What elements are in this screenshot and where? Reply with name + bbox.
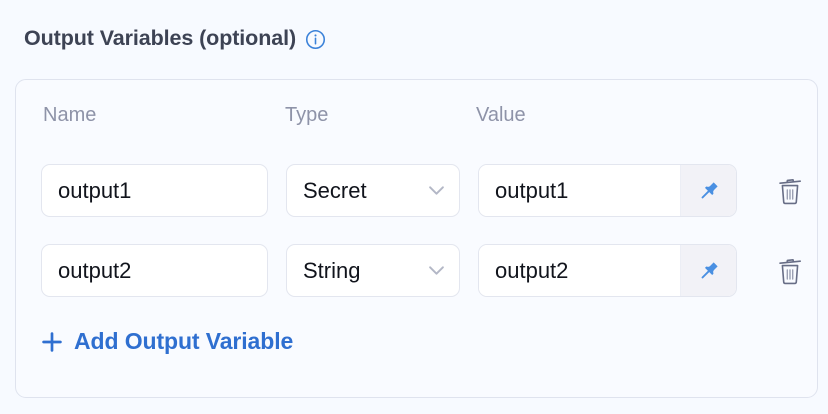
pushpin-icon <box>697 259 721 283</box>
name-input[interactable]: output1 <box>41 164 268 217</box>
value-field-group: output1 <box>478 164 737 217</box>
section-header: Output Variables (optional) <box>24 26 326 51</box>
page-title: Output Variables (optional) <box>24 26 296 51</box>
value-input[interactable]: output1 <box>479 165 680 216</box>
pushpin-icon <box>697 179 721 203</box>
plus-icon <box>41 331 63 353</box>
pin-button[interactable] <box>680 245 736 296</box>
add-output-variable-button[interactable]: Add Output Variable <box>41 328 293 355</box>
type-select[interactable]: Secret <box>286 164 460 217</box>
chevron-down-icon <box>428 185 445 196</box>
add-output-variable-label: Add Output Variable <box>74 328 293 355</box>
table-column-headers: Name Type Value <box>16 104 817 134</box>
output-variables-card: Name Type Value output1 Secret output1 <box>15 79 818 398</box>
name-input[interactable]: output2 <box>41 244 268 297</box>
value-field-group: output2 <box>478 244 737 297</box>
type-select-value: Secret <box>303 178 367 204</box>
type-select-value: String <box>303 258 360 284</box>
trash-icon <box>776 176 804 206</box>
column-header-value: Value <box>476 104 526 127</box>
column-header-type: Type <box>285 104 328 127</box>
delete-row-button[interactable] <box>771 172 809 210</box>
table-row: output2 String output2 <box>16 244 817 297</box>
trash-icon <box>776 256 804 286</box>
chevron-down-icon <box>428 265 445 276</box>
delete-row-button[interactable] <box>771 252 809 290</box>
output-variables-rows: output1 Secret output1 <box>16 164 817 324</box>
table-row: output1 Secret output1 <box>16 164 817 217</box>
column-header-name: Name <box>43 104 96 127</box>
pin-button[interactable] <box>680 165 736 216</box>
output-variables-panel: Output Variables (optional) Name Type Va… <box>0 0 828 414</box>
info-circle-icon[interactable] <box>305 29 326 50</box>
type-select[interactable]: String <box>286 244 460 297</box>
value-input[interactable]: output2 <box>479 245 680 296</box>
